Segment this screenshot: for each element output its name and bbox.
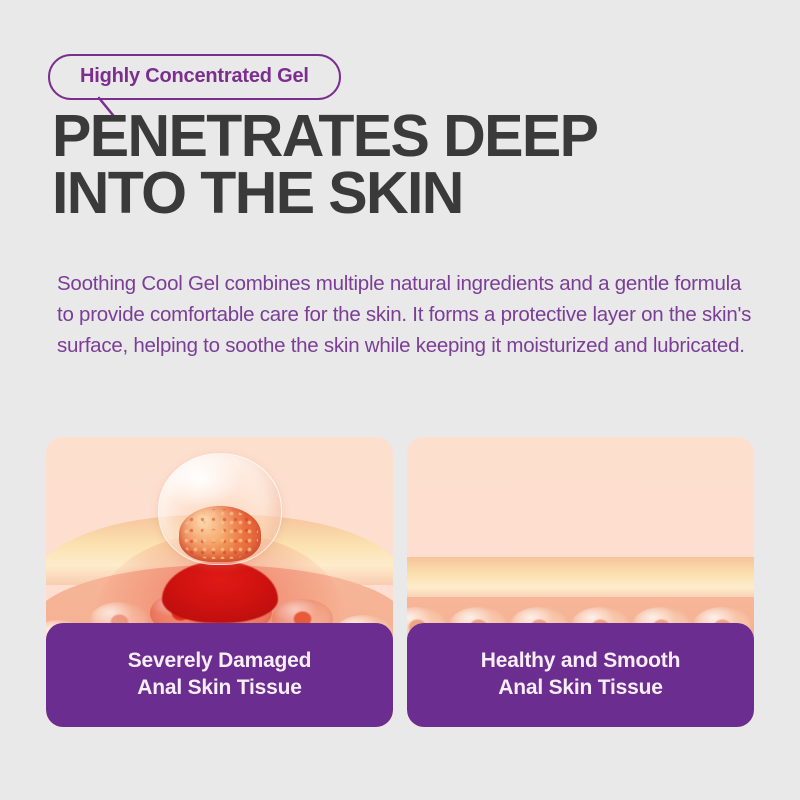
damaged-skin-caption: Severely Damaged Anal Skin Tissue — [46, 623, 393, 727]
product-feature-graphic: Highly Concentrated Gel PENETRATES DEEP … — [0, 0, 800, 800]
caption-line-1: Healthy and Smooth — [481, 648, 680, 675]
blister-core-icon — [179, 506, 261, 562]
caption-line-1: Severely Damaged — [128, 648, 312, 675]
skin-comparison-panels: Severely Damaged Anal Skin Tissue Health… — [46, 437, 754, 727]
healthy-skin-panel: Healthy and Smooth Anal Skin Tissue — [407, 437, 754, 727]
caption-line-2: Anal Skin Tissue — [137, 675, 301, 702]
badge-container: Highly Concentrated Gel — [48, 54, 341, 100]
highly-concentrated-gel-badge: Highly Concentrated Gel — [48, 54, 341, 100]
blister-dome-icon — [158, 453, 282, 565]
healthy-skin-caption: Healthy and Smooth Anal Skin Tissue — [407, 623, 754, 727]
page-title: PENETRATES DEEP INTO THE SKIN — [52, 108, 752, 222]
badge-label: Highly Concentrated Gel — [80, 65, 309, 87]
description-paragraph: Soothing Cool Gel combines multiple natu… — [57, 268, 757, 361]
page-title-line-1: PENETRATES DEEP — [52, 108, 752, 165]
page-title-line-2: INTO THE SKIN — [52, 165, 752, 222]
damaged-skin-panel: Severely Damaged Anal Skin Tissue — [46, 437, 393, 727]
caption-line-2: Anal Skin Tissue — [498, 675, 662, 702]
